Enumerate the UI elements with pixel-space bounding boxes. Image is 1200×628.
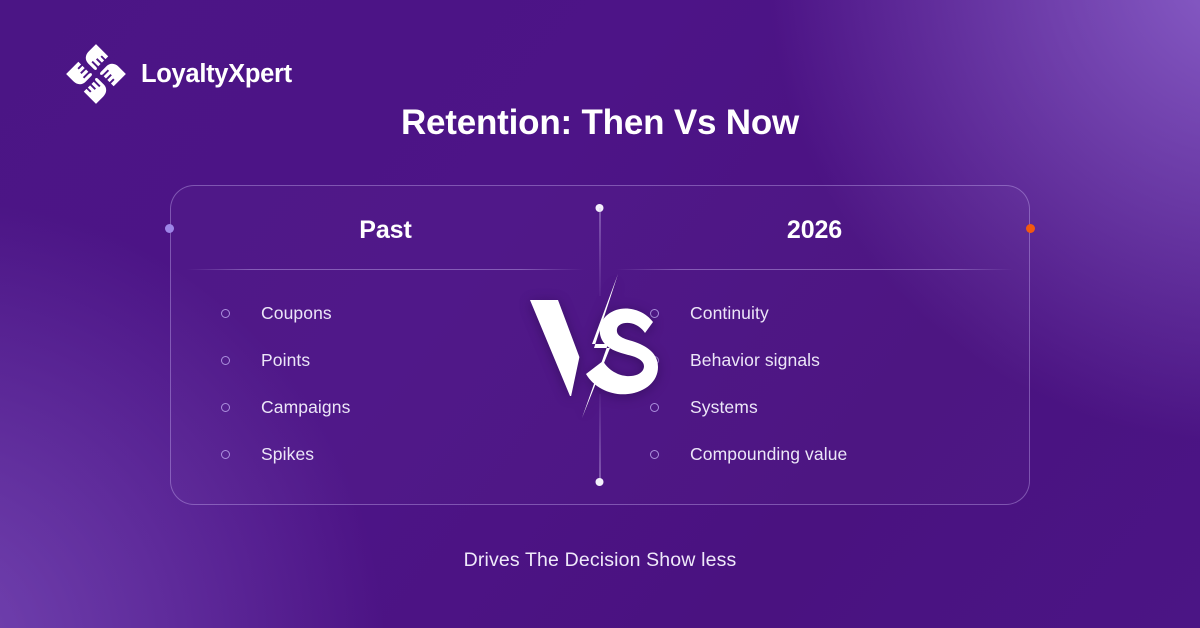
list-item-label: Continuity <box>690 303 769 324</box>
page-title: Retention: Then Vs Now <box>0 103 1200 143</box>
list-item-label: Behavior signals <box>690 350 820 371</box>
list-item-label: Systems <box>690 397 758 418</box>
divider-dot-bottom <box>596 478 604 486</box>
vs-lightning-icon <box>520 270 680 420</box>
bullet-circle-icon <box>221 309 230 318</box>
brand-name: LoyaltyXpert <box>141 60 292 89</box>
list-item: Spikes <box>171 431 600 478</box>
bullet-circle-icon <box>221 356 230 365</box>
bullet-circle-icon <box>221 450 230 459</box>
vs-badge <box>520 270 680 420</box>
brand-logo: LoyaltyXpert <box>64 42 292 106</box>
bullet-circle-icon <box>650 450 659 459</box>
column-heading-past: Past <box>171 216 600 245</box>
list-item: Compounding value <box>600 431 1029 478</box>
card-edge-dot-right <box>1026 224 1035 233</box>
list-item-label: Points <box>261 350 310 371</box>
list-item-label: Campaigns <box>261 397 350 418</box>
column-heading-2026: 2026 <box>600 216 1029 245</box>
comparison-card: Past Coupons Points Campaigns <box>170 185 1030 505</box>
list-item-label: Coupons <box>261 303 332 324</box>
four-hands-diamond-icon <box>64 42 128 106</box>
card-edge-dot-left <box>165 224 174 233</box>
slide-canvas: LoyaltyXpert Retention: Then Vs Now Past… <box>0 0 1200 628</box>
footer-caption: Drives The Decision Show less <box>0 549 1200 572</box>
bullet-circle-icon <box>221 403 230 412</box>
list-item-label: Spikes <box>261 444 314 465</box>
list-item-label: Compounding value <box>690 444 847 465</box>
